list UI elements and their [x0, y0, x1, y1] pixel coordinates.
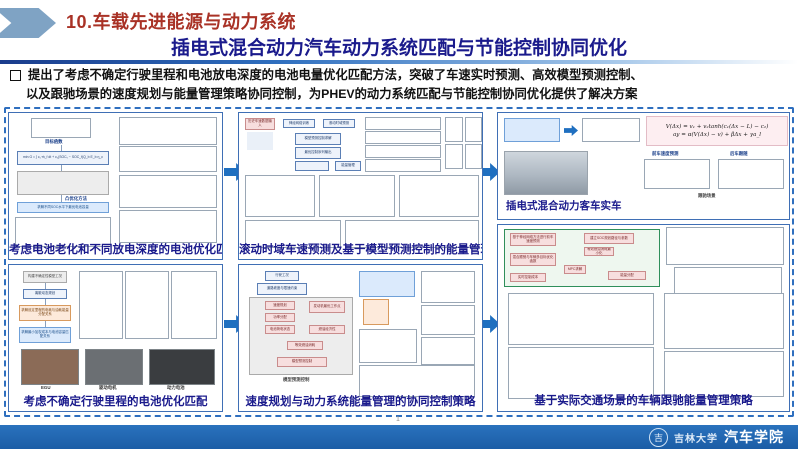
- nn-icon: [247, 132, 273, 150]
- panel-b1-caption: 滚动时域车速预测及基于模型预测控制的能量管理: [239, 241, 482, 257]
- photo-label-battery: 动力电池: [167, 385, 185, 391]
- panel-phev-bus-platform[interactable]: V(Δx) = v₁ + v₂tanh(c₁(Δx − L) − c₂) ay …: [497, 112, 790, 220]
- slide-header: 10.车载先进能源与动力系统 插电式混合动力汽车动力系统匹配与节能控制协同优化: [0, 0, 798, 62]
- b1-plot-soc: [245, 175, 315, 217]
- c2-node-5: 实时控制成本: [510, 273, 546, 282]
- column-battery-matching: 目标函数 min G = ∫ c₁·ṁ_f dt + c₂(SOC₀ − SOC…: [8, 112, 223, 412]
- b1-node-5: 能量管理: [335, 161, 361, 171]
- b2-node-8: 模型预测控制: [277, 357, 327, 367]
- c2-node-0: 基于神经网络方法进行前车速度预测: [510, 233, 556, 246]
- panel-a2-caption: 考虑不确定行驶里程的电池优化匹配: [9, 393, 222, 409]
- panel-b2-caption: 速度规划与动力系统能量管理的协同控制策略: [239, 393, 482, 409]
- panel-a2-figure: 构建不确定性模型工况 离散动态规划 求解设定里程的电耗与油耗能量分配关系 求解最…: [9, 265, 222, 411]
- b2-plot-3: [359, 329, 417, 363]
- b1-strip-2: [365, 131, 441, 144]
- panel-b2-figure: 行驶工况 道路坡度与限速约束 速度规划 功率分配 电池荷电状态 发动机最优工作点…: [239, 265, 482, 411]
- slide-root: 10.车载先进能源与动力系统 插电式混合动力汽车动力系统匹配与节能控制协同优化 …: [0, 0, 798, 449]
- bullet-line-2: 以及跟驰场景的速度规划与能量管理策略协同控制，为PHEV的动力系统匹配与节能控制…: [26, 85, 792, 104]
- b2-node-5: 发动机最优工作点: [309, 301, 345, 313]
- b2-node-1: 道路坡度与限速约束: [257, 283, 307, 295]
- a1-node-2: 求解不同SOC水平下最优电池容量: [17, 202, 109, 213]
- b1-node-3: 模型预测控制求解: [295, 133, 341, 145]
- c1-eq-line1: V(Δx) = v₁ + v₂tanh(c₁(Δx − L) − c₂): [666, 123, 769, 131]
- bullet-block: 提出了考虑不确定行驶里程和电池放电深度的电池电量优化匹配方法，突破了车速实时预测…: [8, 66, 792, 104]
- b1-surface-3: [445, 144, 463, 169]
- b1-surface-2: [465, 117, 482, 142]
- photo-motor: [85, 349, 143, 385]
- b1-strip-3: [365, 145, 441, 158]
- b1-plot-degrade: [319, 175, 395, 217]
- photo-egu: [21, 349, 79, 385]
- b1-node-4: 最优控制序列输出: [295, 147, 341, 159]
- c2-node-4: MPC求解: [564, 265, 586, 274]
- bullet-line-1: 提出了考虑不确定行驶里程和电池放电深度的电池电量优化匹配方法，突破了车速实时预测…: [28, 66, 643, 85]
- c1-inline-arrow-icon: [564, 125, 578, 136]
- panel-battery-aging[interactable]: 目标函数 min G = ∫ c₁·ṁ_f dt + c₂(SOC₀ − SOC…: [8, 112, 223, 260]
- university-name: 吉林大学: [674, 430, 718, 445]
- b2-node-0: 行驶工况: [265, 271, 299, 281]
- b2-vehicle-model: [359, 271, 415, 297]
- photo-label-egu: EGU: [41, 385, 51, 390]
- a1-plot-4: [119, 210, 217, 243]
- c2-node-2: 混合跟驰与车辆多目标优化函数: [510, 253, 556, 266]
- b2-plot-2: [421, 305, 475, 335]
- a2-node-0: 构建不确定性模型工况: [23, 271, 67, 283]
- c2-bar-chart: [664, 293, 784, 349]
- panel-uncertain-mileage[interactable]: 构建不确定性模型工况 离散动态规划 求解设定里程的电耗与油耗能量分配关系 求解最…: [8, 264, 223, 412]
- a1-equation: min G = ∫ c₁·ṁ_f dt + c₂(SOC₀ − SOC_f)Q_…: [17, 151, 109, 165]
- b2-node-6: 燃油经济性: [309, 325, 345, 334]
- c2-plot-power-top: [666, 227, 784, 265]
- university-seal-icon: 吉: [649, 428, 668, 447]
- b1-node-1: 神经网络训练: [283, 119, 315, 128]
- b2-node-3: 功率分配: [265, 313, 295, 322]
- b2-subcaption: 模型预测控制: [283, 377, 309, 383]
- b2-node-2: 速度规划: [265, 301, 295, 310]
- photo-label-motor: 驱动电机: [99, 385, 117, 391]
- b2-plot-4: [421, 337, 475, 365]
- c2-plot-demand-1: [508, 293, 654, 345]
- c1-annot-1: 后车跟随: [730, 151, 748, 157]
- a2-plot-2: [125, 271, 169, 339]
- c1-bus-schematic-follow: [718, 159, 784, 189]
- header-divider: [0, 60, 798, 64]
- photo-phev-bus: [504, 151, 588, 195]
- b1-plot-power: [399, 175, 479, 217]
- b1-node-2: 滚动时域预测: [323, 119, 355, 128]
- bullet-marker-icon: [10, 70, 21, 81]
- column-car-following: V(Δx) = v₁ + v₂tanh(c₁(Δx − L) − c₂) ay …: [497, 112, 790, 412]
- b1-strip-4: [365, 159, 441, 172]
- c2-plot-soc-compare: [664, 351, 784, 397]
- b1-node-0: 历史车速数据输入: [245, 118, 275, 130]
- photo-battery: [149, 349, 215, 385]
- b1-strip-1: [365, 117, 441, 130]
- b2-plot-1: [421, 271, 475, 303]
- c2-node-6: 能量分配: [608, 271, 646, 280]
- slide-footer: 吉 吉林大学 汽车学院: [0, 425, 798, 449]
- section-title: 10.车载先进能源与动力系统: [66, 8, 296, 34]
- panel-c1-caption: 插电式混合动力客车实车: [498, 198, 790, 213]
- a2-plot-3: [171, 271, 217, 339]
- c2-node-3: 等效燃油消耗最小化: [584, 247, 614, 256]
- panel-c2-figure: 基于神经网络方法进行前车速度预测 建立SOC规划路径与参数 混合跟驰与车辆多目标…: [498, 225, 789, 411]
- a2-plot-1: [79, 271, 123, 339]
- college-name: 汽车学院: [724, 427, 784, 447]
- c2-node-1: 建立SOC规划路径与参数: [584, 233, 634, 244]
- a2-node-1: 离散动态规划: [23, 289, 67, 299]
- c1-equations: V(Δx) = v₁ + v₂tanh(c₁(Δx − L) − c₂) ay …: [646, 116, 788, 146]
- a1-node-0: 目标函数: [45, 139, 63, 145]
- a1-plot-2: [119, 146, 217, 172]
- panel-a1-caption: 考虑电池老化和不同放电深度的电池优化匹配: [9, 241, 222, 257]
- panel-a1-figure: 目标函数 min G = ∫ c₁·ṁ_f dt + c₂(SOC₀ − SOC…: [9, 113, 222, 259]
- panel-speed-prediction-mpc[interactable]: 历史车速数据输入 神经网络训练 滚动时域预测 模型预测控制求解 最优控制序列输出…: [238, 112, 483, 260]
- c1-eq-line2: ay = α(V(Δx) − v) + βΔx + γa_l: [673, 131, 761, 139]
- b2-plant-icon: [363, 299, 389, 325]
- a1-plot-1: [119, 117, 217, 145]
- panel-c2-caption: 基于实际交通场景的车辆跟驰能量管理策略: [498, 392, 789, 408]
- a2-node-3: 求解最小加权成本与电池容量匹配关系: [19, 327, 71, 343]
- column-speed-prediction: 历史车速数据输入 神经网络训练 滚动时域预测 模型预测控制求解 最优控制序列输出…: [238, 112, 483, 412]
- panel-b1-figure: 历史车速数据输入 神经网络训练 滚动时域预测 模型预测控制求解 最优控制序列输出…: [239, 113, 482, 259]
- b1-surface-4: [465, 144, 482, 169]
- c1-annot-0: 前车速度预测: [652, 151, 678, 157]
- panel-speed-planning-coordination[interactable]: 行驶工况 道路坡度与限速约束 速度规划 功率分配 电池荷电状态 发动机最优工作点…: [238, 264, 483, 412]
- c1-bus-schematic-lead: [644, 159, 710, 189]
- a2-node-2: 求解设定里程的电耗与油耗能量分配关系: [19, 305, 71, 321]
- b2-node-7: 等效燃油消耗: [287, 341, 323, 350]
- b2-node-4: 电池荷电状态: [265, 325, 295, 334]
- c1-data-block: [504, 118, 560, 142]
- c1-nn-diagram: [582, 118, 640, 142]
- b1-surface-1: [445, 117, 463, 142]
- panel-traffic-scenario-ems[interactable]: 基于神经网络方法进行前车速度预测 建立SOC规划路径与参数 混合跟驰与车辆多目标…: [497, 224, 790, 412]
- page-number: 1: [396, 416, 400, 423]
- signal-plot-thumb: [31, 118, 91, 138]
- page-title: 插电式混合动力汽车动力系统匹配与节能控制协同优化: [0, 33, 798, 60]
- a1-plot-3: [119, 175, 217, 208]
